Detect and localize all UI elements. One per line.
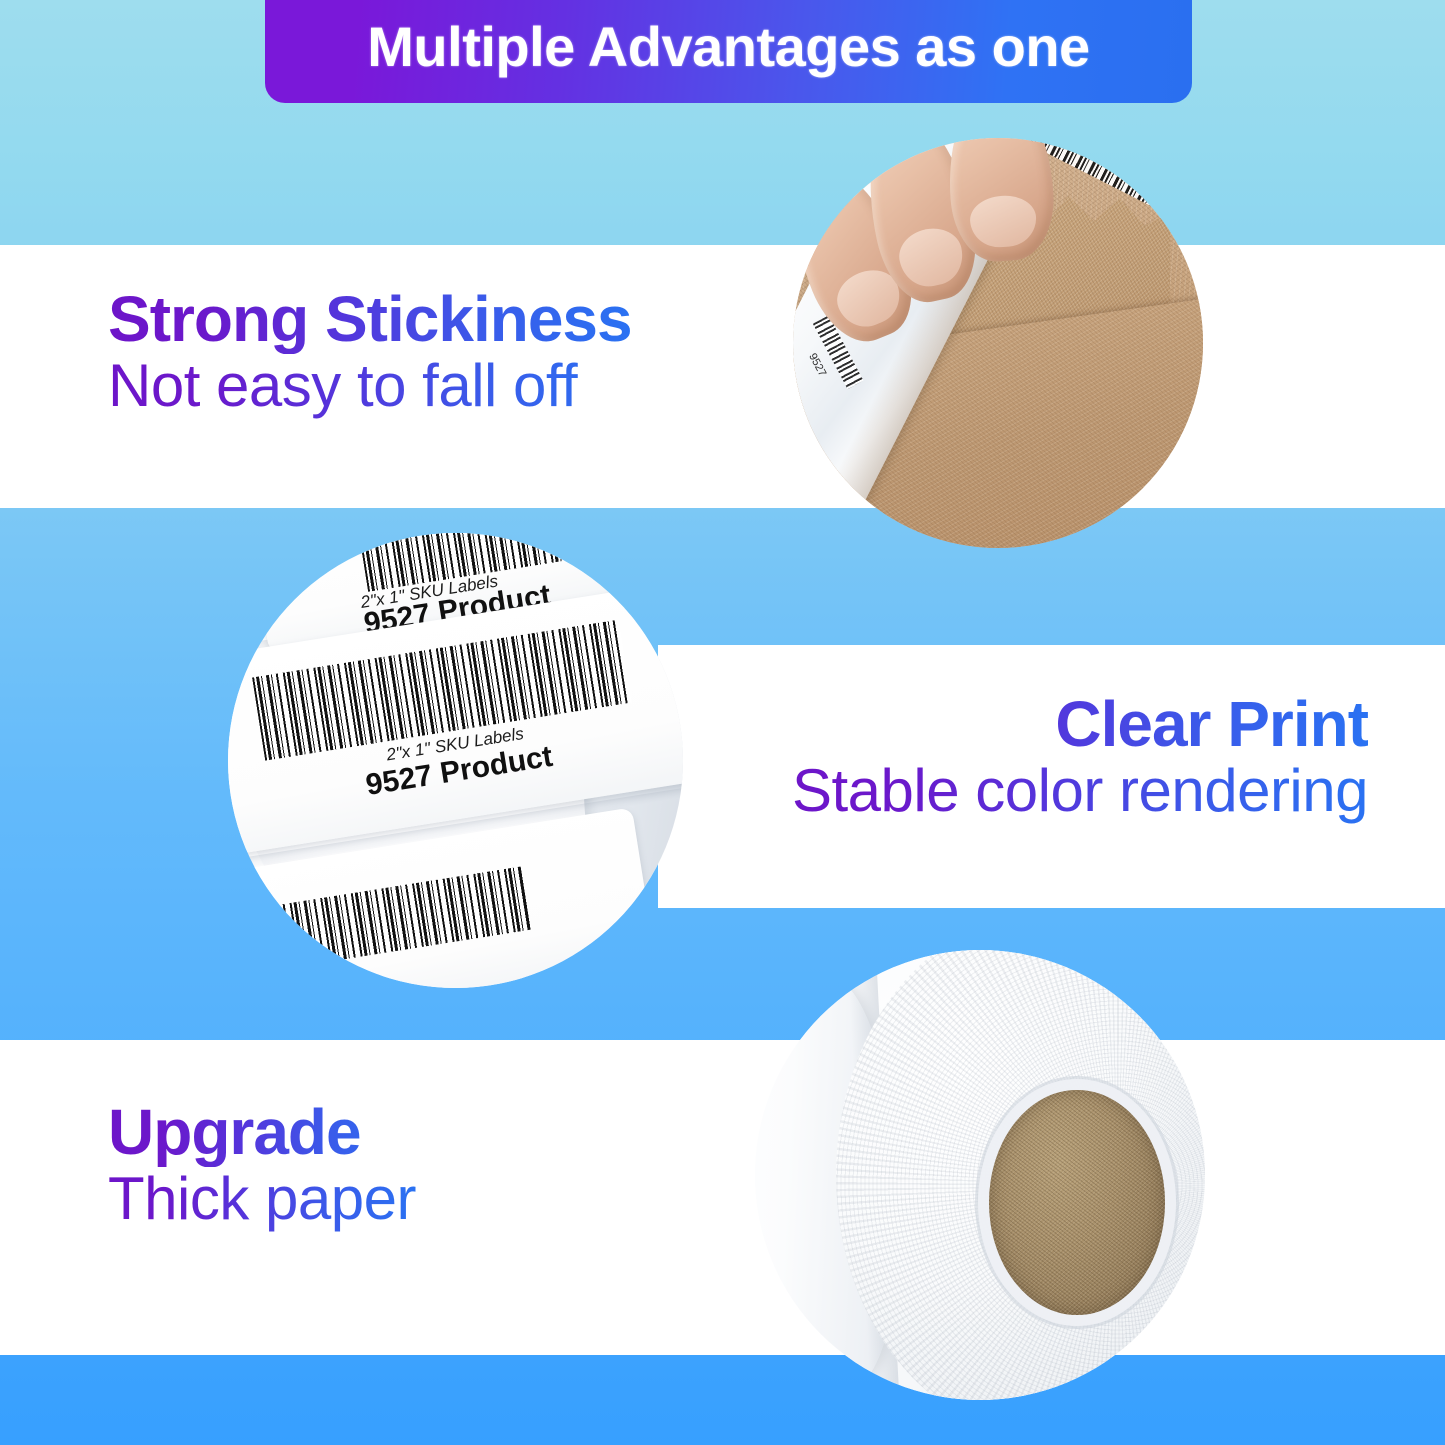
kraft-core [989,1090,1165,1315]
feature-title: Clear Print [792,690,1368,759]
feature-subtitle: Thick paper [108,1167,416,1232]
fingernail [894,223,967,291]
infographic-page: Multiple Advantages as one 9527 Strong S… [0,0,1445,1445]
sku-label-roll-photo: 2"x 1" SKU Labels 9527 Product 2"x 1" SK… [228,533,683,988]
kraft-core-texture [989,1090,1165,1315]
page-title: Multiple Advantages as one [367,14,1089,79]
barcode-icon [228,867,531,981]
adhesive-peel-photo: 9527 [793,138,1203,548]
feature-strong-stickiness: Strong Stickiness Not easy to fall off [108,285,632,419]
feature-title: Upgrade [108,1098,416,1167]
feature-subtitle: Not easy to fall off [108,354,632,419]
feature-subtitle: Stable color rendering [792,759,1368,824]
header-banner: Multiple Advantages as one [265,0,1192,103]
fingernail [969,193,1038,249]
label-roll-core-photo [755,950,1205,1400]
feature-title: Strong Stickiness [108,285,632,354]
feature-upgrade: Upgrade Thick paper [108,1098,416,1232]
feature-clear-print: Clear Print Stable color rendering [792,690,1368,824]
